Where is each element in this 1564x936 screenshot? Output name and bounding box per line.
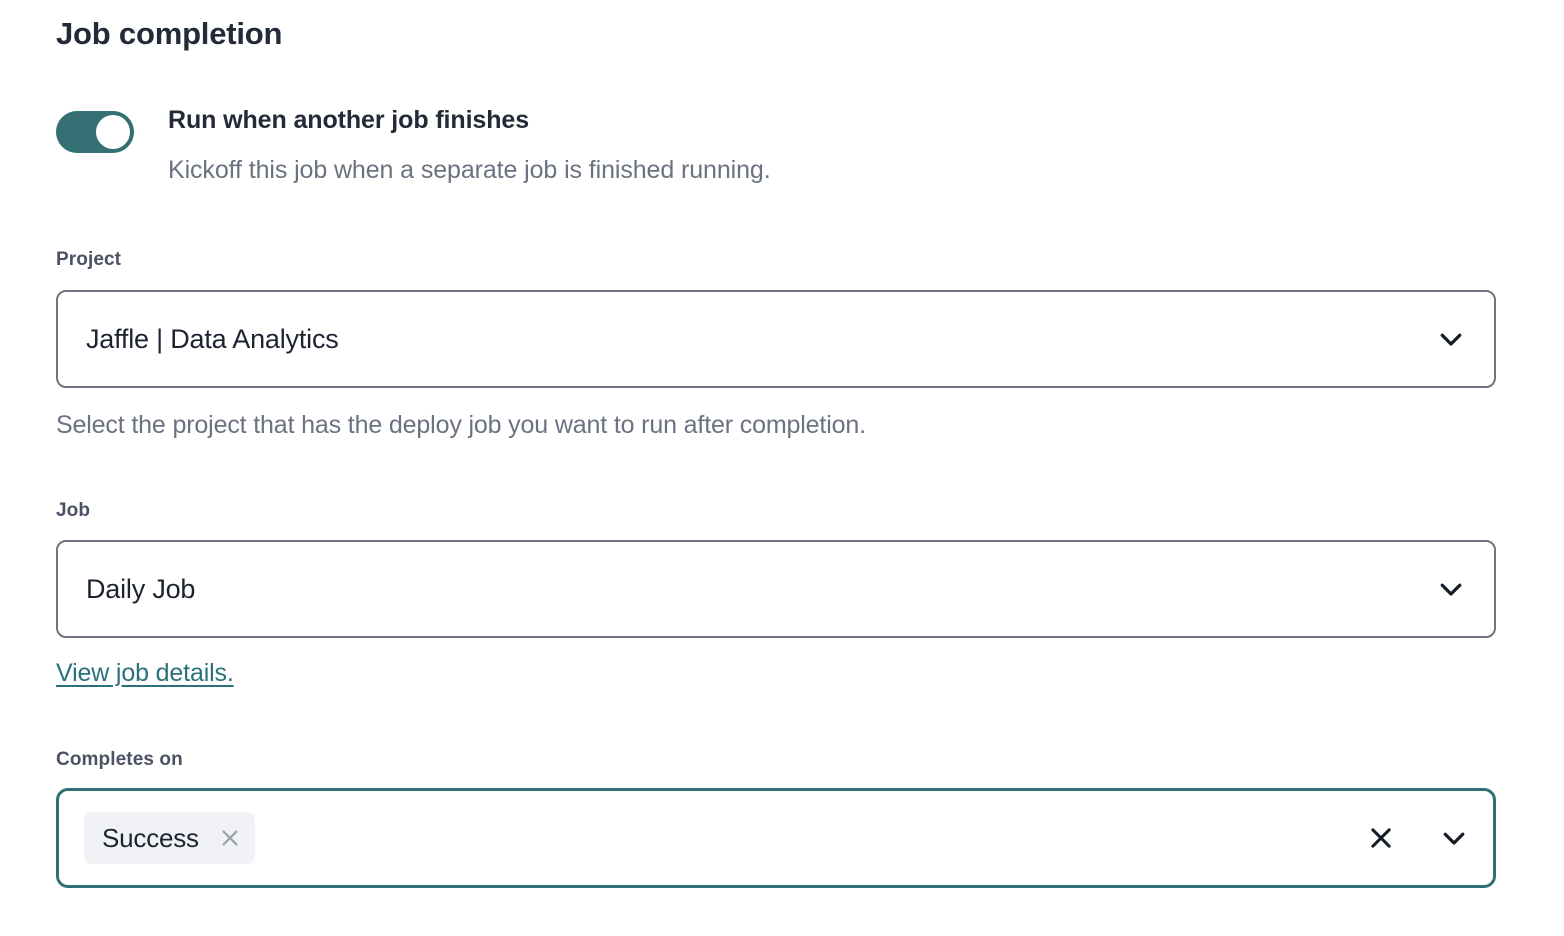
job-select-value: Daily Job xyxy=(86,542,195,636)
toggle-text-group: Run when another job finishes Kickoff th… xyxy=(168,104,1496,187)
selected-option-chip: Success xyxy=(84,812,255,864)
chevron-down-icon[interactable] xyxy=(1439,823,1469,853)
chip-label: Success xyxy=(102,823,199,854)
toggle-label: Run when another job finishes xyxy=(168,104,1496,136)
toggle-knob xyxy=(96,115,130,149)
job-select[interactable]: Daily Job xyxy=(56,540,1496,638)
completes-on-field-label: Completes on xyxy=(56,748,183,772)
job-field-label: Job xyxy=(56,499,90,523)
completes-on-multiselect[interactable]: Success xyxy=(56,788,1496,888)
project-helper-text: Select the project that has the deploy j… xyxy=(56,409,866,441)
multiselect-actions xyxy=(1367,823,1469,853)
run-when-another-job-finishes-row: Run when another job finishes Kickoff th… xyxy=(56,104,1496,187)
project-select-value: Jaffle | Data Analytics xyxy=(86,292,339,386)
chevron-down-icon[interactable] xyxy=(1436,324,1466,354)
page-title: Job completion xyxy=(56,14,282,54)
project-field-label: Project xyxy=(56,248,121,272)
toggle-description: Kickoff this job when a separate job is … xyxy=(168,153,1496,187)
clear-selection-close-icon[interactable] xyxy=(1367,824,1395,852)
view-job-details-link[interactable]: View job details. xyxy=(56,659,234,688)
chevron-down-icon[interactable] xyxy=(1436,574,1466,604)
run-when-another-job-finishes-toggle[interactable] xyxy=(56,111,134,153)
close-icon[interactable] xyxy=(219,827,241,849)
project-select[interactable]: Jaffle | Data Analytics xyxy=(56,290,1496,388)
